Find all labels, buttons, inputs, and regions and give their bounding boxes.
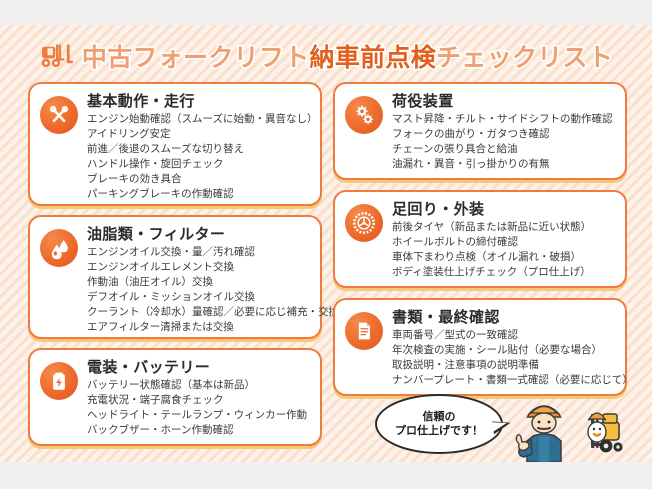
bubble-line-1: 信頼の xyxy=(423,410,456,424)
list-item: 作動油（油圧オイル）交換 xyxy=(87,275,310,290)
list-item: エンジンオイルエレメント交換 xyxy=(87,260,310,275)
list-item: バックブザー・ホーン作動確認 xyxy=(87,423,310,438)
list-item: 車体下まわり点検（オイル漏れ・破損） xyxy=(392,250,615,265)
card-title: 書類・最終確認 xyxy=(392,309,615,326)
list-item: ブレーキの効き具合 xyxy=(87,172,310,187)
list-item: ボディ塗装仕上げチェック（プロ仕上げ） xyxy=(392,265,615,280)
list-item: 車両番号／型式の一致確認 xyxy=(392,328,615,343)
mascot-area: 信頼の プロ仕上げです！ xyxy=(375,392,627,462)
card-documents-final-check[interactable]: 書類・最終確認 車両番号／型式の一致確認 年次検査の実施・シール貼付（必要な場合… xyxy=(333,298,627,396)
list-item: 年次検査の実施・シール貼付（必要な場合） xyxy=(392,343,615,358)
list-item: エンジンオイル交換・量／汚れ確認 xyxy=(87,245,310,260)
card-body: 電装・バッテリー バッテリー状態確認（基本は新品） 充電状況・端子腐食チェック … xyxy=(87,359,310,436)
list-item: 前後タイヤ（新品または新品に近い状態） xyxy=(392,220,615,235)
list-item: 前進／後退のスムーズな切り替え xyxy=(87,142,310,157)
title-segment-predelivery: 納車前点検 xyxy=(310,38,437,74)
list-item: 充電状況・端子腐食チェック xyxy=(87,393,310,408)
card-body: 書類・最終確認 車両番号／型式の一致確認 年次検査の実施・シール貼付（必要な場合… xyxy=(392,309,615,386)
list-item: ナンバープレート・書類一式確認（必要に応じて） xyxy=(392,373,615,388)
worker-with-forklift-illustration xyxy=(505,392,627,462)
battery-icon xyxy=(40,362,78,400)
list-item: バッテリー状態確認（基本は新品） xyxy=(87,378,310,393)
title-segment-checklist: チェックリスト xyxy=(436,38,613,74)
card-body: 足回り・外装 前後タイヤ（新品または新品に近い状態） ホイールボルトの締付確認 … xyxy=(392,201,615,278)
list-item: 取扱説明・注意事項の説明準備 xyxy=(392,358,615,373)
forklift-icon xyxy=(39,42,73,70)
list-item: 油漏れ・異音・引っ掛かりの有無 xyxy=(392,157,615,172)
list-item: ホイールボルトの締付確認 xyxy=(392,235,615,250)
list-item: パーキングブレーキの作動確認 xyxy=(87,187,310,202)
wrench-screwdriver-icon xyxy=(40,96,78,134)
background-top-band xyxy=(0,0,652,25)
gears-icon xyxy=(345,96,383,134)
card-body: 基本動作・走行 エンジン始動確認（スムーズに始動・異音なし） アイドリング安定 … xyxy=(87,93,310,196)
checklist: エンジン始動確認（スムーズに始動・異音なし） アイドリング安定 前進／後退のスム… xyxy=(87,112,310,201)
list-item: チェーンの張り具合と給油 xyxy=(392,142,615,157)
infographic-canvas: 中古フォークリフト 納車前点検 チェックリスト 基本動作・走行 エンジン始動確認… xyxy=(0,0,652,489)
card-electrical-battery[interactable]: 電装・バッテリー バッテリー状態確認（基本は新品） 充電状況・端子腐食チェック … xyxy=(28,348,322,446)
list-item: ハンドル操作・旋回チェック xyxy=(87,157,310,172)
tire-wheel-icon xyxy=(345,204,383,242)
card-title: 基本動作・走行 xyxy=(87,93,310,110)
card-undercarriage-exterior[interactable]: 足回り・外装 前後タイヤ（新品または新品に近い状態） ホイールボルトの締付確認 … xyxy=(333,190,627,288)
checklist: バッテリー状態確認（基本は新品） 充電状況・端子腐食チェック ヘッドライト・テー… xyxy=(87,378,310,438)
oil-droplet-icon xyxy=(40,229,78,267)
list-item: デフオイル・ミッションオイル交換 xyxy=(87,290,310,305)
card-title: 電装・バッテリー xyxy=(87,359,310,376)
title-segment-used-forklift: 中古フォークリフト xyxy=(82,38,310,74)
speech-bubble: 信頼の プロ仕上げです！ xyxy=(375,394,503,454)
document-icon xyxy=(345,312,383,350)
card-title: 足回り・外装 xyxy=(392,201,615,218)
card-title: 荷役装置 xyxy=(392,93,615,110)
checklist: 前後タイヤ（新品または新品に近い状態） ホイールボルトの締付確認 車体下まわり点… xyxy=(392,220,615,280)
list-item: マスト昇降・チルト・サイドシフトの動作確認 xyxy=(392,112,615,127)
card-body: 油脂類・フィルター エンジンオイル交換・量／汚れ確認 エンジンオイルエレメント交… xyxy=(87,226,310,329)
list-item: クーラント（冷却水）量確認／必要に応じ補充・交換 xyxy=(87,305,310,320)
list-item: アイドリング安定 xyxy=(87,127,310,142)
card-basic-operation[interactable]: 基本動作・走行 エンジン始動確認（スムーズに始動・異音なし） アイドリング安定 … xyxy=(28,82,322,206)
card-oil-filter[interactable]: 油脂類・フィルター エンジンオイル交換・量／汚れ確認 エンジンオイルエレメント交… xyxy=(28,215,322,339)
card-cargo-handling[interactable]: 荷役装置 マスト昇降・チルト・サイドシフトの動作確認 フォークの曲がり・ガタつき… xyxy=(333,82,627,180)
card-title: 油脂類・フィルター xyxy=(87,226,310,243)
bubble-line-2: プロ仕上げです！ xyxy=(395,424,483,438)
card-body: 荷役装置 マスト昇降・チルト・サイドシフトの動作確認 フォークの曲がり・ガタつき… xyxy=(392,93,615,170)
checklist: エンジンオイル交換・量／汚れ確認 エンジンオイルエレメント交換 作動油（油圧オイ… xyxy=(87,245,310,334)
page-header: 中古フォークリフト 納車前点検 チェックリスト xyxy=(0,34,652,78)
list-item: エアフィルター清掃または交換 xyxy=(87,320,310,335)
list-item: エンジン始動確認（スムーズに始動・異音なし） xyxy=(87,112,310,127)
background-bottom-band xyxy=(0,462,652,489)
list-item: ヘッドライト・テールランプ・ウィンカー作動 xyxy=(87,408,310,423)
list-item: フォークの曲がり・ガタつき確認 xyxy=(392,127,615,142)
checklist: マスト昇降・チルト・サイドシフトの動作確認 フォークの曲がり・ガタつき確認 チェ… xyxy=(392,112,615,172)
checklist: 車両番号／型式の一致確認 年次検査の実施・シール貼付（必要な場合） 取扱説明・注… xyxy=(392,328,615,388)
